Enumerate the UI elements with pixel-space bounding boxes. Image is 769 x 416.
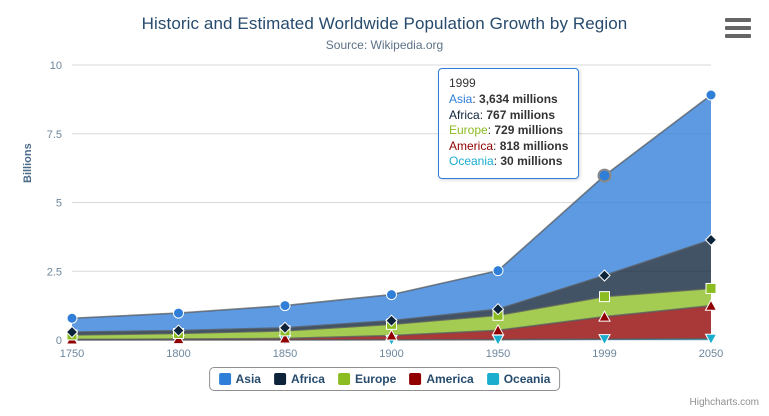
- tooltip-series-name: Africa: [449, 108, 480, 122]
- y-axis-tick-label: 7.5: [47, 129, 62, 141]
- y-axis-tick-label: 2.5: [47, 266, 62, 278]
- tooltip-row: Asia: 3,634 millions: [449, 92, 568, 108]
- tooltip-series-value: 30 millions: [497, 154, 562, 168]
- x-axis-tick-label: 2050: [699, 348, 723, 360]
- data-point-europe: [706, 283, 716, 293]
- highlighted-data-point: [599, 170, 611, 182]
- data-point-europe: [600, 292, 610, 302]
- tooltip-row: Oceania: 30 millions: [449, 154, 568, 170]
- x-axis-tick-label: 1750: [60, 348, 84, 360]
- tooltip-series-value: 818 millions: [496, 139, 568, 153]
- data-point-asia: [493, 266, 503, 276]
- legend-item-label: Europe: [355, 372, 396, 386]
- chart-plot-area: 02.557.5101750180018501900195019992050: [0, 0, 769, 416]
- legend-item-label: Asia: [236, 372, 261, 386]
- tooltip-series-name: America: [449, 139, 493, 153]
- legend-color-swatch-icon: [274, 373, 286, 385]
- tooltip-row: Europe: 729 millions: [449, 123, 568, 139]
- legend-item-oceania[interactable]: Oceania: [487, 372, 551, 386]
- chart-container: Historic and Estimated Worldwide Populat…: [0, 0, 769, 416]
- x-axis-tick-label: 1850: [273, 348, 297, 360]
- legend-item-label: America: [426, 372, 473, 386]
- x-axis-tick-label: 1900: [379, 348, 403, 360]
- tooltip: 1999 Asia: 3,634 millionsAfrica: 767 mil…: [438, 68, 579, 179]
- data-point-asia: [387, 290, 397, 300]
- legend-item-africa[interactable]: Africa: [274, 372, 325, 386]
- legend-color-swatch-icon: [219, 373, 231, 385]
- legend-item-europe[interactable]: Europe: [338, 372, 396, 386]
- data-point-asia: [706, 90, 716, 100]
- legend-item-label: Africa: [291, 372, 325, 386]
- legend-item-america[interactable]: America: [409, 372, 473, 386]
- legend-color-swatch-icon: [338, 373, 350, 385]
- x-axis-tick-label: 1800: [166, 348, 190, 360]
- legend-color-swatch-icon: [409, 373, 421, 385]
- legend-color-swatch-icon: [487, 373, 499, 385]
- tooltip-row: America: 818 millions: [449, 139, 568, 155]
- legend-item-asia[interactable]: Asia: [219, 372, 261, 386]
- data-point-asia: [67, 313, 77, 323]
- y-axis-tick-label: 5: [56, 198, 62, 210]
- x-axis-tick-label: 1950: [486, 348, 510, 360]
- chart-legend: AsiaAfricaEuropeAmericaOceania: [209, 367, 561, 391]
- tooltip-row: Africa: 767 millions: [449, 108, 568, 124]
- tooltip-series-value: 729 millions: [491, 123, 563, 137]
- tooltip-series-name: Asia: [449, 92, 472, 106]
- tooltip-series-name: Oceania: [449, 154, 494, 168]
- data-point-asia: [280, 301, 290, 311]
- tooltip-series-value: 767 millions: [483, 108, 555, 122]
- highcharts-credit: Highcharts.com: [690, 397, 759, 408]
- y-axis-tick-label: 10: [50, 60, 62, 72]
- y-axis-tick-label: 0: [56, 335, 62, 347]
- tooltip-header: 1999: [449, 76, 568, 90]
- tooltip-series-name: Europe: [449, 123, 488, 137]
- legend-item-label: Oceania: [504, 372, 551, 386]
- data-point-asia: [174, 308, 184, 318]
- x-axis-tick-label: 1999: [592, 348, 616, 360]
- tooltip-series-value: 3,634 millions: [476, 92, 558, 106]
- tooltip-rows: Asia: 3,634 millionsAfrica: 767 millions…: [449, 92, 568, 170]
